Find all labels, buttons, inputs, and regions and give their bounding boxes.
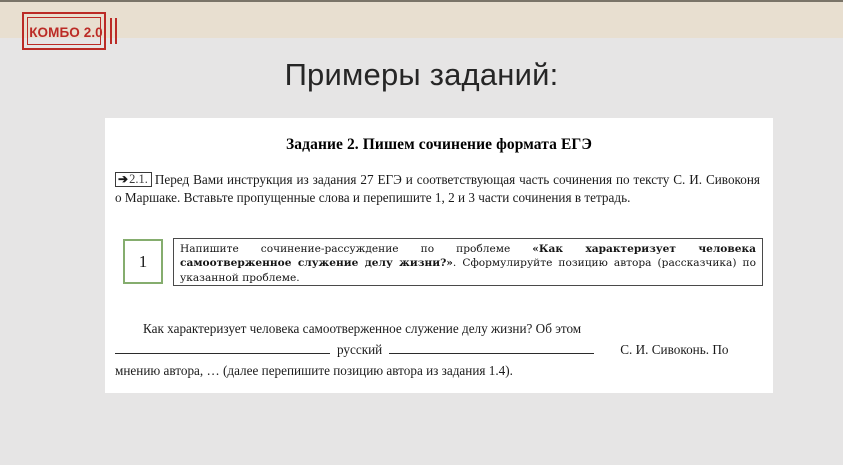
intro-text: Перед Вами инструкция из задания 27 ЕГЭ … bbox=[115, 172, 760, 205]
answer-line1: Как характеризует человека самоотверженн… bbox=[143, 321, 581, 336]
answer-word-middle: русский bbox=[337, 342, 382, 357]
combo-logo: КОМБО 2.0 bbox=[22, 12, 106, 50]
answer-author-name: С. И. Сивоконь. По bbox=[620, 342, 728, 357]
top-banner bbox=[0, 2, 843, 38]
document-heading: Задание 2. Пишем сочинение формата ЕГЭ bbox=[113, 136, 765, 154]
step-badge: ➔2.1. bbox=[115, 172, 152, 187]
task-row: 1 Напишите сочинение-рассуждение по проб… bbox=[115, 238, 763, 290]
step-number: 2.1. bbox=[129, 172, 148, 186]
arrow-right-icon: ➔ bbox=[118, 172, 129, 186]
fill-in-blank-1[interactable] bbox=[115, 340, 330, 354]
document-panel: Задание 2. Пишем сочинение формата ЕГЭ ➔… bbox=[105, 118, 773, 393]
answer-line3: мнению автора, … (далее перепишите позиц… bbox=[115, 363, 513, 378]
logo-label: КОМБО 2.0 bbox=[24, 14, 108, 52]
answer-line2: русскийС. И. Сивоконь. По bbox=[115, 339, 763, 360]
page-title: Примеры заданий: bbox=[0, 57, 843, 93]
logo-bars-icon bbox=[110, 18, 119, 44]
task-number-label: 1 bbox=[125, 241, 161, 282]
intro-paragraph: ➔2.1.Перед Вами инструкция из задания 27… bbox=[115, 171, 760, 206]
task-instruction-box: Напишите сочинение-рассуждение по пробле… bbox=[173, 238, 763, 286]
document-content: Задание 2. Пишем сочинение формата ЕГЭ ➔… bbox=[113, 118, 765, 393]
fill-in-blank-2[interactable] bbox=[389, 340, 594, 354]
answer-paragraph: Как характеризует человека самоотверженн… bbox=[115, 318, 763, 381]
task-text-part1: Напишите сочинение-рассуждение по пробле… bbox=[180, 243, 532, 255]
task-number-marker: 1 bbox=[123, 239, 163, 284]
